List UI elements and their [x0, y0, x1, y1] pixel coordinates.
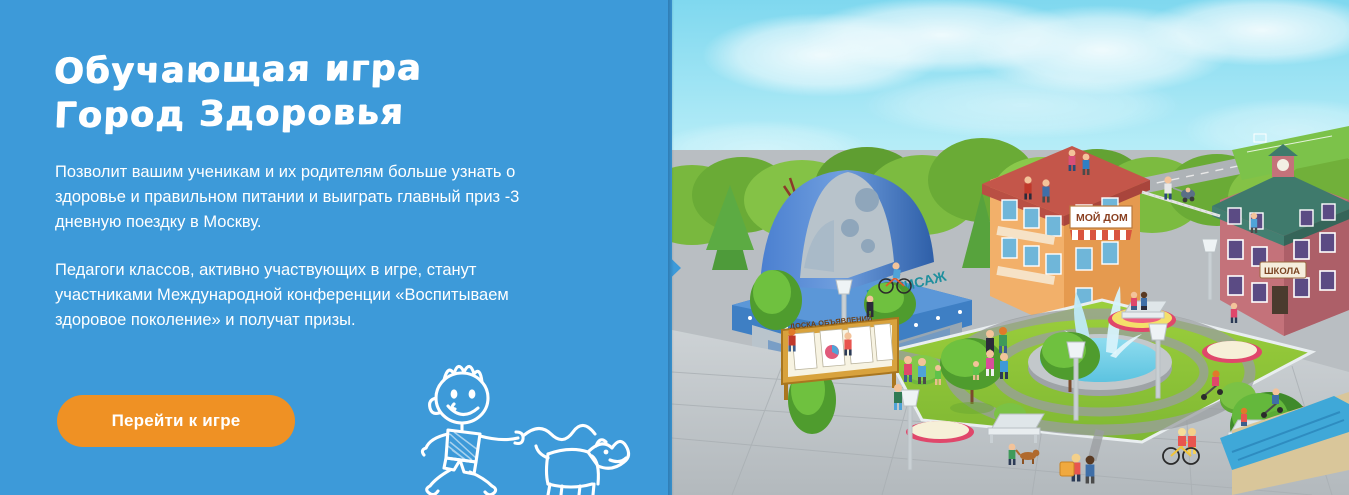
city-illustration-svg: ВЕРНИСАЖ — [672, 0, 1349, 495]
title-line-1: Обучающая игра — [53, 44, 615, 94]
city-illustration: ВЕРНИСАЖ — [640, 0, 1349, 495]
promo-banner: ВЕРНИСАЖ — [0, 0, 1349, 495]
panel-edge-shadow — [668, 0, 674, 495]
description-paragraph-1: Позволит вашим ученикам и их родителям б… — [55, 160, 535, 235]
go-to-game-button[interactable]: Перейти к игре — [57, 395, 295, 447]
boy-with-dog-doodle-icon — [420, 352, 670, 495]
description-paragraph-2: Педагоги классов, активно участвующих в … — [55, 258, 535, 333]
page-title: Обучающая игра Город Здоровья — [51, 44, 615, 138]
sign-moy-dom: МОЙ ДОМ — [1076, 211, 1128, 224]
promo-text-panel: Обучающая игра Город Здоровья Позволит в… — [0, 0, 672, 495]
title-line-2: Город Здоровья — [53, 88, 613, 138]
building-moy-dom: МОЙ ДОМ — [982, 146, 1150, 330]
sign-school: ШКОЛА — [1264, 266, 1300, 277]
